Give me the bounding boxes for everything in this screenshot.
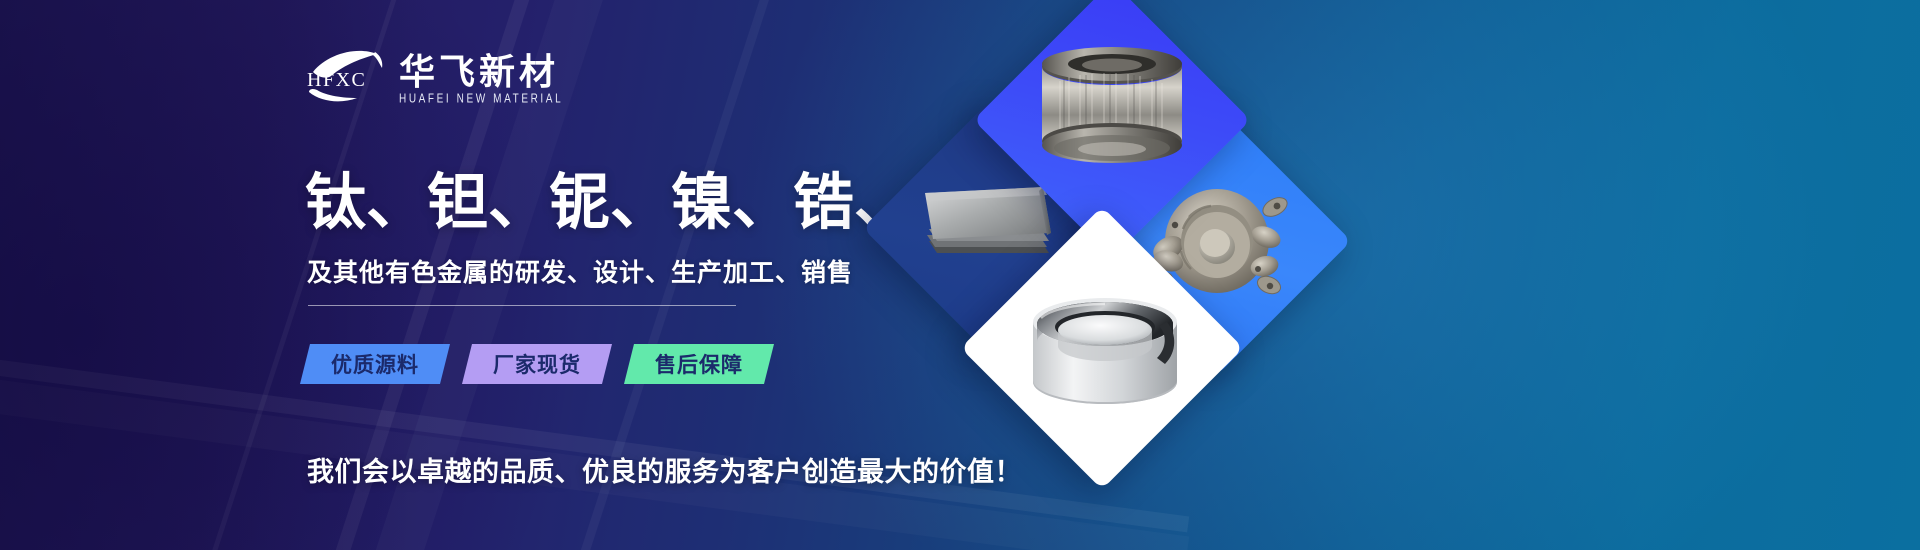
brand-monogram: HFXC	[307, 70, 366, 90]
hero-banner: HFXC 华飞新材 HUAFEI NEW MATERIAL 钛、钽、铌、镍、锆、…	[0, 0, 1920, 550]
brand-name-cn: 华飞新材	[399, 53, 563, 91]
brand-wordmark: 华飞新材 HUAFEI NEW MATERIAL	[399, 53, 563, 105]
badge-quality-material[interactable]: 优质源料	[300, 344, 450, 384]
feature-badges: 优质源料 厂家现货 售后保障	[305, 344, 769, 384]
brand-logo[interactable]: HFXC 华飞新材 HUAFEI NEW MATERIAL	[305, 48, 563, 110]
divider-rule	[308, 305, 736, 306]
brand-name-en: HUAFEI NEW MATERIAL	[399, 93, 563, 107]
badge-factory-stock[interactable]: 厂家现货	[462, 344, 612, 384]
badge-label: 厂家现货	[493, 349, 581, 379]
badge-after-sales[interactable]: 售后保障	[624, 344, 774, 384]
subheadline: 及其他有色金属的研发、设计、生产加工、销售	[307, 253, 853, 289]
badge-label: 优质源料	[331, 349, 419, 379]
swoosh-icon: HFXC	[305, 48, 389, 110]
product-collage	[860, 0, 1460, 550]
badge-label: 售后保障	[655, 349, 743, 379]
